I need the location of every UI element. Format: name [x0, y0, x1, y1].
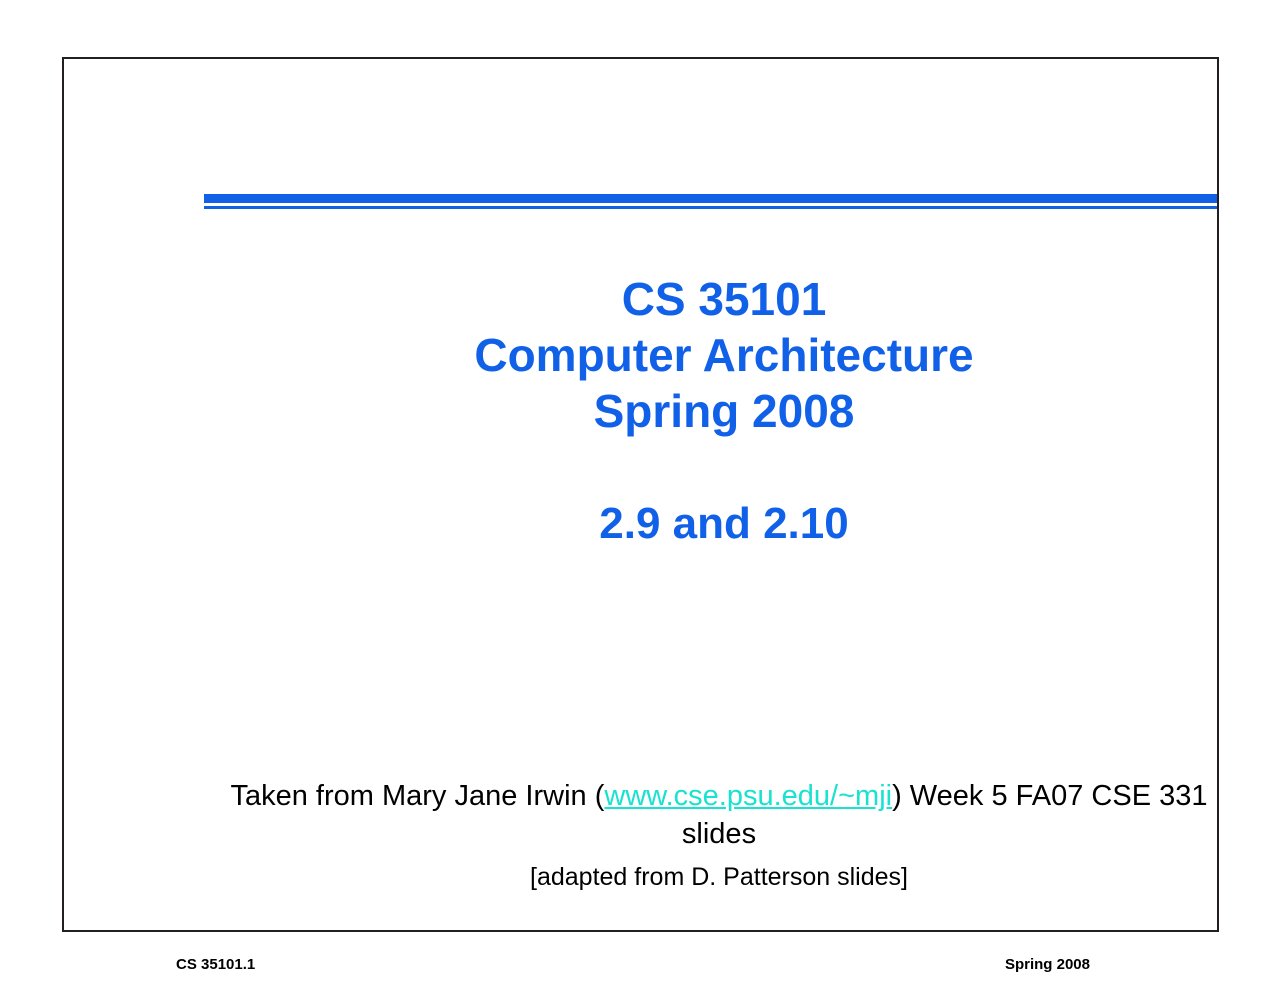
- attribution-prefix-text: Taken from Mary Jane Irwin (: [230, 780, 604, 812]
- attribution-block: Taken from Mary Jane Irwin (www.cse.psu.…: [214, 777, 1224, 895]
- slide-frame: CS 35101 Computer Architecture Spring 20…: [62, 57, 1219, 932]
- slide-canvas: CS 35101 Computer Architecture Spring 20…: [0, 0, 1280, 989]
- title-line-course-code: CS 35101: [224, 271, 1224, 327]
- page-title: CS 35101 Computer Architecture Spring 20…: [224, 271, 1224, 439]
- page-subtitle: 2.9 and 2.10: [224, 497, 1224, 551]
- title-divider-rule: [204, 194, 1217, 210]
- footer-term: Spring 2008: [1005, 956, 1090, 973]
- rule-thin-bar: [204, 206, 1217, 209]
- attribution-primary-text: Taken from Mary Jane Irwin (www.cse.psu.…: [214, 777, 1224, 853]
- title-line-term: Spring 2008: [224, 383, 1224, 439]
- footer-slide-number: CS 35101.1: [176, 956, 255, 973]
- attribution-secondary-text: [adapted from D. Patterson slides]: [214, 859, 1224, 895]
- source-link[interactable]: www.cse.psu.edu/~mji: [604, 780, 892, 812]
- subtitle-sections: 2.9 and 2.10: [224, 497, 1224, 551]
- rule-thick-bar: [204, 194, 1217, 203]
- title-line-course-name: Computer Architecture: [224, 327, 1224, 383]
